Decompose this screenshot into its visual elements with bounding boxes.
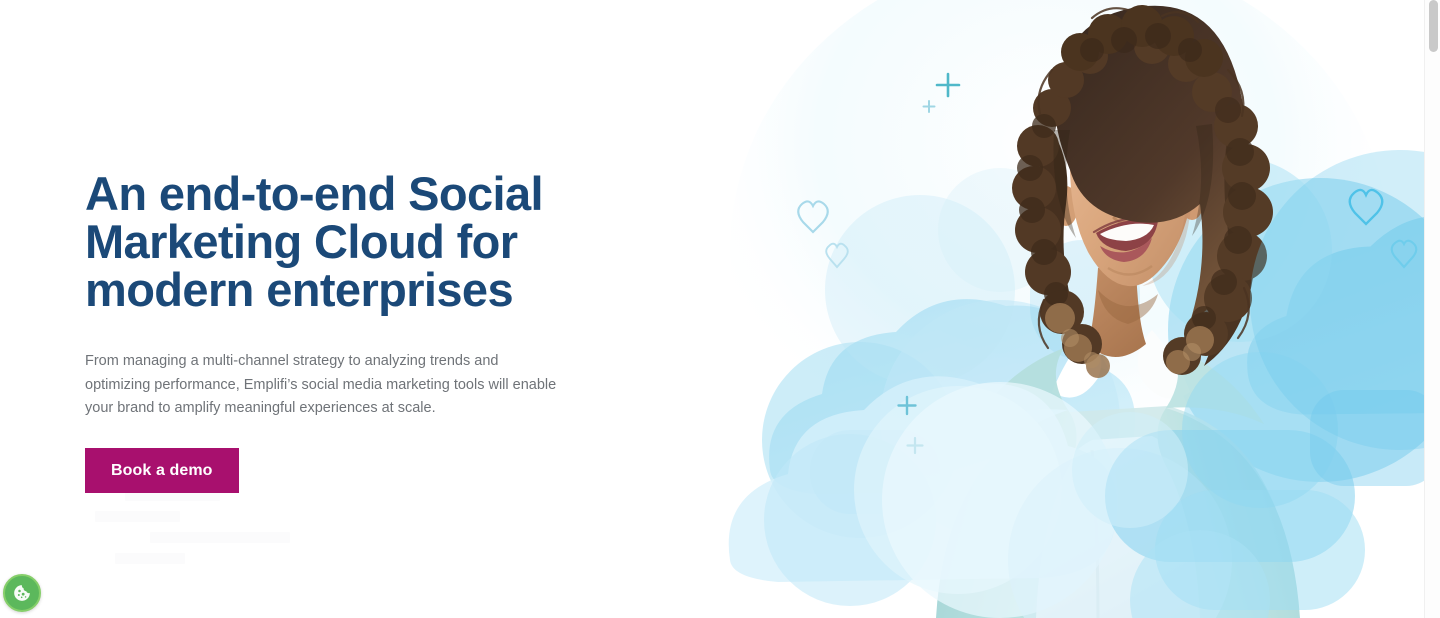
hero-copy-column: An end-to-end Social Marketing Cloud for… — [85, 170, 605, 493]
ghost-line — [95, 511, 180, 522]
ghost-line — [115, 553, 185, 564]
book-a-demo-button[interactable]: Book a demo — [85, 448, 239, 493]
scrollbar-track[interactable] — [1424, 0, 1440, 618]
hero-subtext: From managing a multi-channel strategy t… — [85, 314, 560, 421]
ghost-placeholder-rows — [85, 490, 385, 574]
page-root: An end-to-end Social Marketing Cloud for… — [0, 0, 1440, 618]
scrollbar-thumb[interactable] — [1429, 0, 1438, 52]
cta-row: Book a demo — [85, 421, 605, 493]
cookie-icon — [12, 583, 32, 603]
ghost-line — [150, 532, 290, 543]
cookie-consent-button[interactable] — [3, 574, 41, 612]
page-title: An end-to-end Social Marketing Cloud for… — [85, 170, 555, 314]
hero-illustration — [700, 0, 1440, 618]
